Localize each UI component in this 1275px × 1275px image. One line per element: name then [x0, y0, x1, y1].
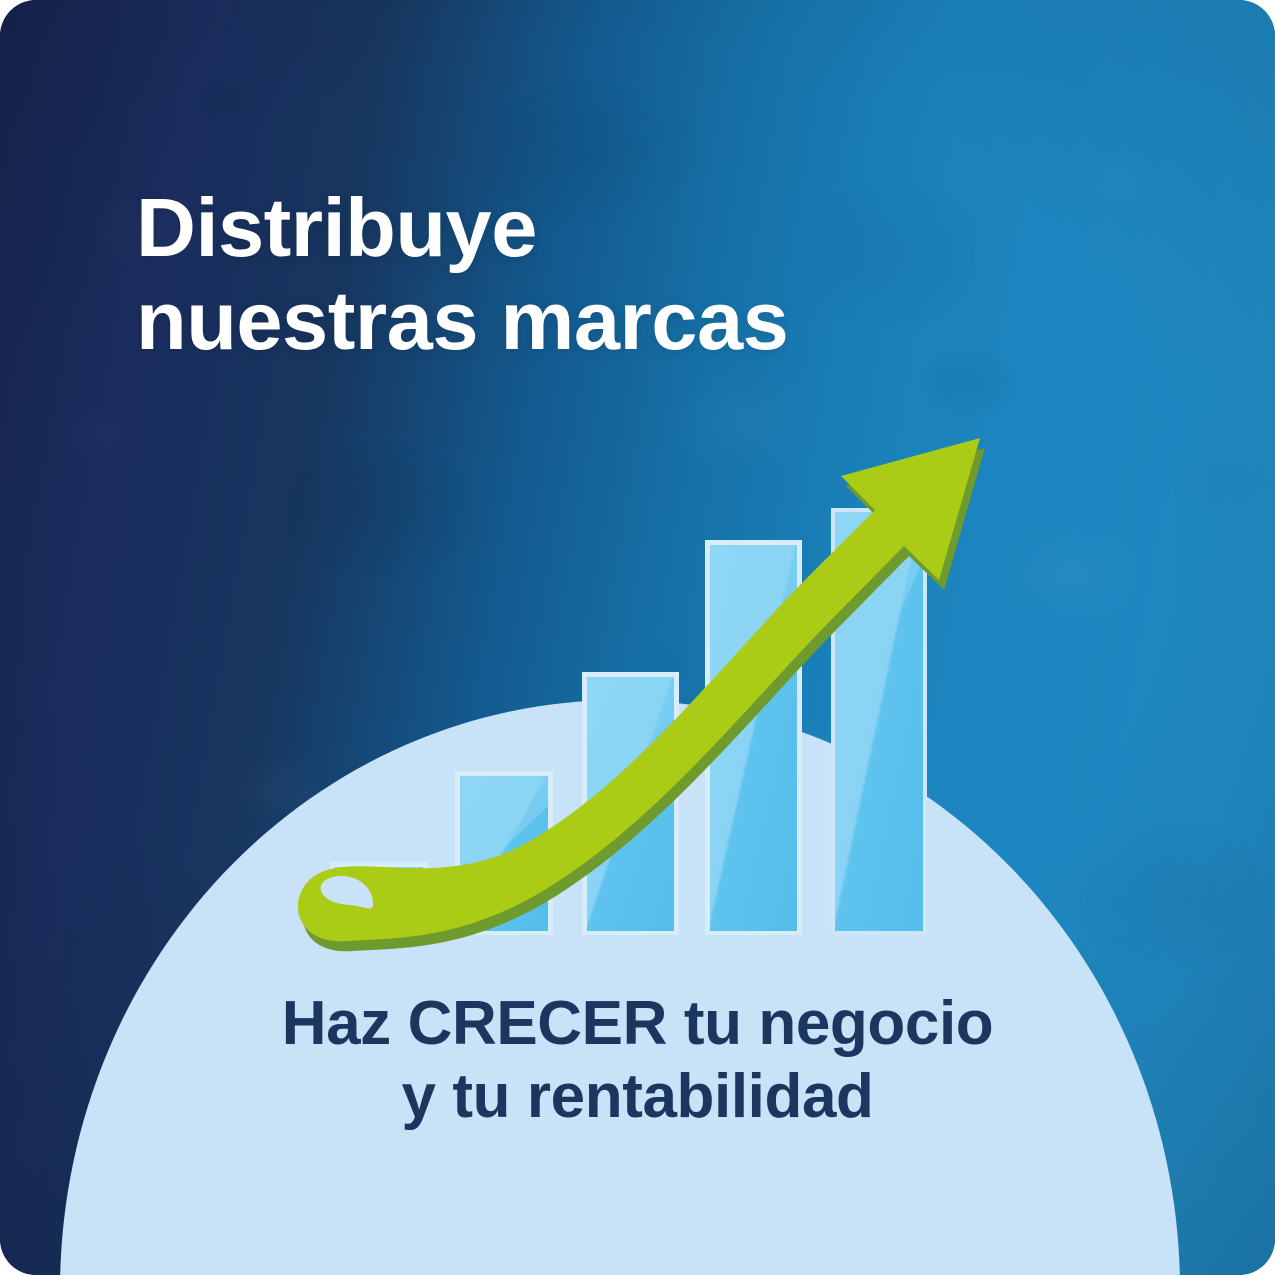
- promo-card: Distribuye nuestras marcas: [0, 0, 1275, 1275]
- caption-text: Haz CRECER tu negocio y tu rentabilidad: [0, 988, 1275, 1133]
